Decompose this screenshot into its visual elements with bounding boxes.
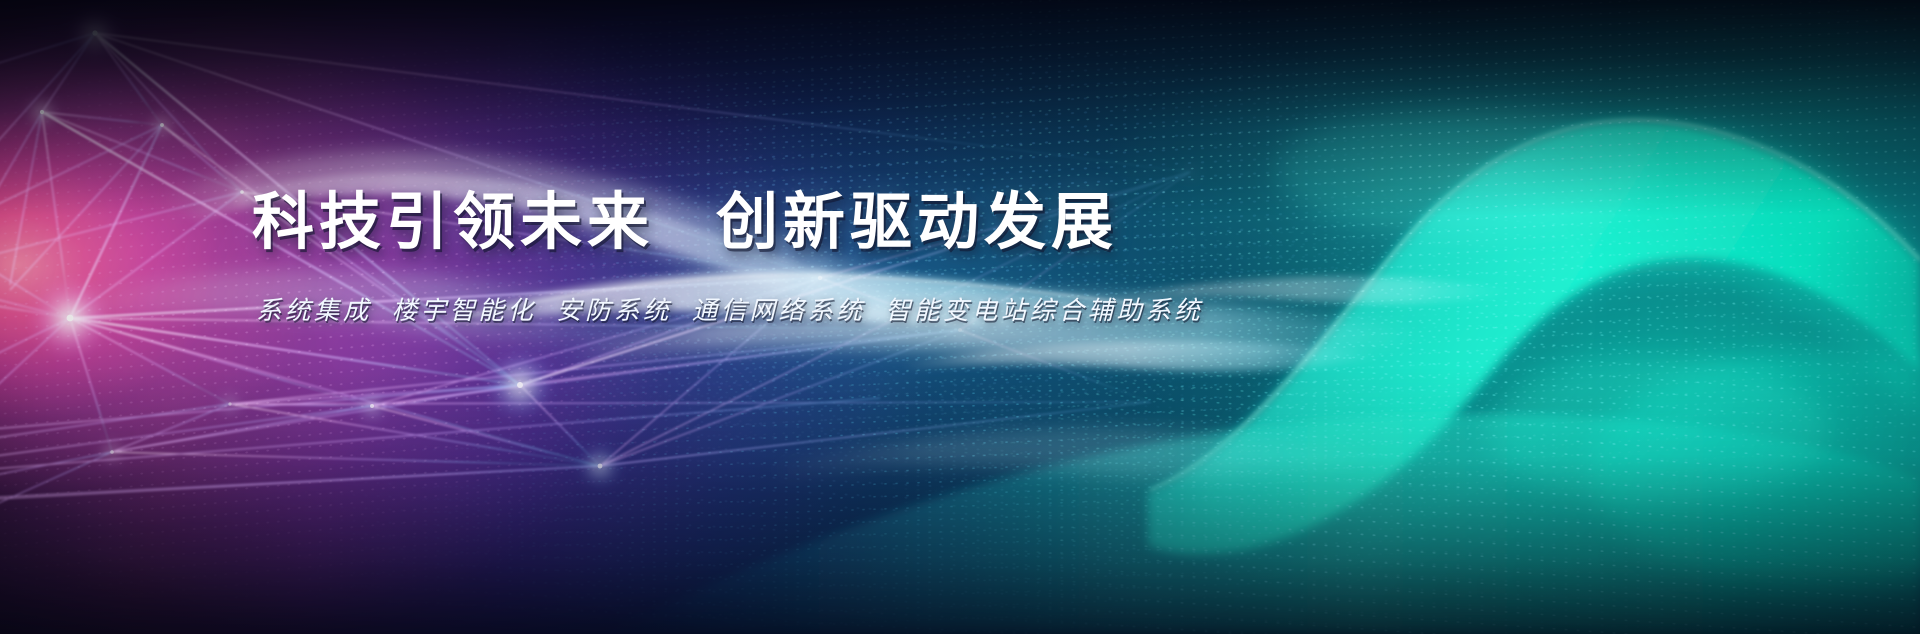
subtitle-item-building-intelligence: 楼宇智能化 [392, 297, 537, 325]
subtitle-item-communication-network: 通信网络系统 [692, 297, 865, 325]
banner-title: 科技引领未来创新驱动发展 [252, 190, 1372, 256]
subtitle-item-system-integration: 系统集成 [256, 297, 372, 325]
subtitle-item-security-system: 安防系统 [556, 297, 672, 325]
banner-title-part-2: 创新驱动发展 [716, 188, 1118, 257]
banner-subtitle: 系统集成楼宇智能化安防系统通信网络系统智能变电站综合辅助系统 [256, 290, 1372, 327]
banner-title-part-1: 科技引领未来 [252, 188, 654, 257]
tech-banner: 科技引领未来创新驱动发展 系统集成楼宇智能化安防系统通信网络系统智能变电站综合辅… [0, 0, 1920, 634]
banner-text-block: 科技引领未来创新驱动发展 系统集成楼宇智能化安防系统通信网络系统智能变电站综合辅… [252, 190, 1372, 327]
subtitle-item-substation-auxiliary: 智能变电站综合辅助系统 [885, 297, 1203, 325]
